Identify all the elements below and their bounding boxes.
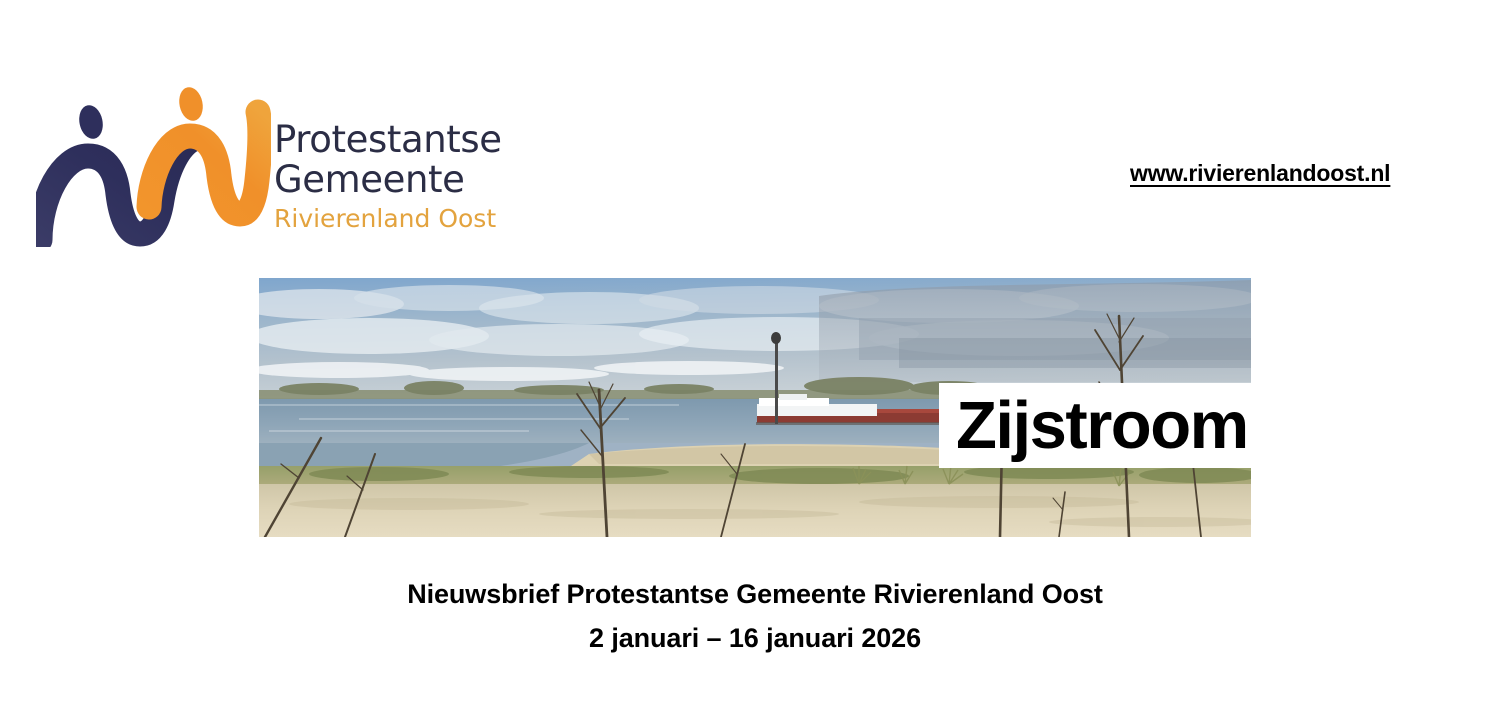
brand-block: Protestantse Gemeente Rivierenland Oost bbox=[36, 82, 556, 247]
brand-line-protestantse: Protestantse bbox=[274, 120, 564, 160]
newsletter-caption: Nieuwsbrief Protestantse Gemeente Rivier… bbox=[0, 572, 1510, 660]
caption-line-title: Nieuwsbrief Protestantse Gemeente Rivier… bbox=[0, 572, 1510, 616]
website-link[interactable]: www.rivierenlandoost.nl bbox=[1130, 160, 1390, 187]
caption-line-daterange: 2 januari – 16 januari 2026 bbox=[0, 616, 1510, 660]
brand-line-gemeente: Gemeente bbox=[274, 160, 564, 200]
hero-title: Zijstroom bbox=[939, 391, 1248, 461]
brand-wordmark: Protestantse Gemeente Rivierenland Oost bbox=[274, 120, 564, 234]
hero-title-plate: Zijstroom bbox=[939, 383, 1251, 468]
protestantse-gemeente-logo-icon bbox=[36, 82, 271, 247]
brand-line-rivierenland-oost: Rivierenland Oost bbox=[274, 204, 564, 234]
header: Protestantse Gemeente Rivierenland Oost … bbox=[0, 0, 1510, 265]
